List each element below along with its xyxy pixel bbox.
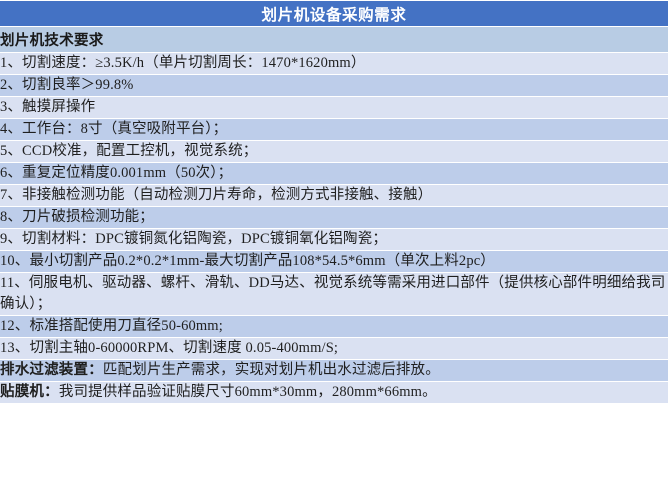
requirement-row: 12、标准搭配使用刀直径50-60mm;: [0, 316, 668, 337]
procurement-requirements-table: 划片机设备采购需求 划片机技术要求 1、切割速度：≥3.5K/h（单片切割周长：…: [0, 0, 668, 404]
requirement-cell: 3、触摸屏操作: [0, 97, 668, 118]
requirement-cell: 11、伺服电机、驱动器、螺杆、滑轨、DD马达、视觉系统等需采用进口部件（提供核心…: [0, 273, 668, 315]
requirement-cell: 10、最小切割产品0.2*0.2*1mm-最大切割产品108*54.5*6mm（…: [0, 251, 668, 272]
requirement-text: 8、刀片破损检测功能；: [0, 209, 154, 225]
requirement-text: 7、非接触检测功能（自动检测刀片寿命，检测方式非接触、接触）: [0, 187, 432, 203]
requirement-row: 5、CCD校准，配置工控机，视觉系统；: [0, 141, 668, 162]
requirement-row: 13、切割主轴0-60000RPM、切割速度 0.05-400mm/S;: [0, 338, 668, 359]
requirement-text: 6、重复定位精度0.001mm（50次）；: [0, 165, 232, 181]
requirement-text: 3、触摸屏操作: [0, 99, 95, 115]
requirement-text: 12、标准搭配使用刀直径50-60mm;: [0, 318, 223, 334]
requirement-row: 7、非接触检测功能（自动检测刀片寿命，检测方式非接触、接触）: [0, 185, 668, 206]
requirement-cell: 13、切割主轴0-60000RPM、切割速度 0.05-400mm/S;: [0, 338, 668, 359]
requirement-cell: 9、切割材料：DPC镀铜氮化铝陶瓷，DPC镀铜氧化铝陶瓷；: [0, 229, 668, 250]
requirement-row: 6、重复定位精度0.001mm（50次）；: [0, 163, 668, 184]
requirement-text: 10、最小切割产品0.2*0.2*1mm-最大切割产品108*54.5*6mm（…: [0, 253, 495, 269]
requirement-text: 匹配划片生产需求，实现对划片机出水过滤后排放。: [103, 362, 440, 378]
document-title: 划片机设备采购需求: [0, 1, 668, 26]
requirement-label: 排水过滤装置：: [0, 362, 103, 378]
requirement-text: 11、伺服电机、驱动器、螺杆、滑轨、DD马达、视觉系统等需采用进口部件（提供核心…: [0, 275, 665, 312]
section-header-row: 划片机技术要求: [0, 27, 668, 52]
requirement-text: 5、CCD校准，配置工控机，视觉系统；: [0, 143, 257, 159]
requirement-cell: 1、切割速度：≥3.5K/h（单片切割周长：1470*1620mm）: [0, 53, 668, 74]
requirement-cell: 4、工作台：8寸（真空吸附平台）；: [0, 119, 668, 140]
requirement-row: 2、切割良率＞99.8%: [0, 75, 668, 96]
requirement-row: 排水过滤装置：匹配划片生产需求，实现对划片机出水过滤后排放。: [0, 360, 668, 381]
table-body: 划片机设备采购需求 划片机技术要求 1、切割速度：≥3.5K/h（单片切割周长：…: [0, 1, 668, 403]
requirement-cell: 7、非接触检测功能（自动检测刀片寿命，检测方式非接触、接触）: [0, 185, 668, 206]
requirement-cell: 2、切割良率＞99.8%: [0, 75, 668, 96]
document-title-row: 划片机设备采购需求: [0, 1, 668, 26]
requirement-cell: 5、CCD校准，配置工控机，视觉系统；: [0, 141, 668, 162]
requirement-text: 我司提供样品验证贴膜尺寸60mm*30mm，280mm*66mm。: [59, 384, 437, 400]
requirement-cell: 8、刀片破损检测功能；: [0, 207, 668, 228]
requirement-cell: 贴膜机：我司提供样品验证贴膜尺寸60mm*30mm，280mm*66mm。: [0, 382, 668, 403]
requirement-row: 4、工作台：8寸（真空吸附平台）；: [0, 119, 668, 140]
requirement-text: 9、切割材料：DPC镀铜氮化铝陶瓷，DPC镀铜氧化铝陶瓷；: [0, 231, 387, 247]
requirement-row: 9、切割材料：DPC镀铜氮化铝陶瓷，DPC镀铜氧化铝陶瓷；: [0, 229, 668, 250]
requirement-row: 10、最小切割产品0.2*0.2*1mm-最大切割产品108*54.5*6mm（…: [0, 251, 668, 272]
requirement-cell: 6、重复定位精度0.001mm（50次）；: [0, 163, 668, 184]
requirement-text: 1、切割速度：≥3.5K/h（单片切割周长：1470*1620mm）: [0, 55, 366, 71]
requirement-text: 4、工作台：8寸（真空吸附平台）；: [0, 121, 227, 137]
requirement-text: 13、切割主轴0-60000RPM、切割速度 0.05-400mm/S;: [0, 340, 338, 356]
requirement-row: 1、切割速度：≥3.5K/h（单片切割周长：1470*1620mm）: [0, 53, 668, 74]
requirement-row: 3、触摸屏操作: [0, 97, 668, 118]
requirement-row: 8、刀片破损检测功能；: [0, 207, 668, 228]
requirement-row: 贴膜机：我司提供样品验证贴膜尺寸60mm*30mm，280mm*66mm。: [0, 382, 668, 403]
requirement-cell: 排水过滤装置：匹配划片生产需求，实现对划片机出水过滤后排放。: [0, 360, 668, 381]
requirement-text: 2、切割良率＞99.8%: [0, 77, 134, 93]
requirement-row: 11、伺服电机、驱动器、螺杆、滑轨、DD马达、视觉系统等需采用进口部件（提供核心…: [0, 273, 668, 315]
requirement-cell: 12、标准搭配使用刀直径50-60mm;: [0, 316, 668, 337]
section-header-label: 划片机技术要求: [0, 27, 668, 52]
requirement-label: 贴膜机：: [0, 384, 59, 400]
